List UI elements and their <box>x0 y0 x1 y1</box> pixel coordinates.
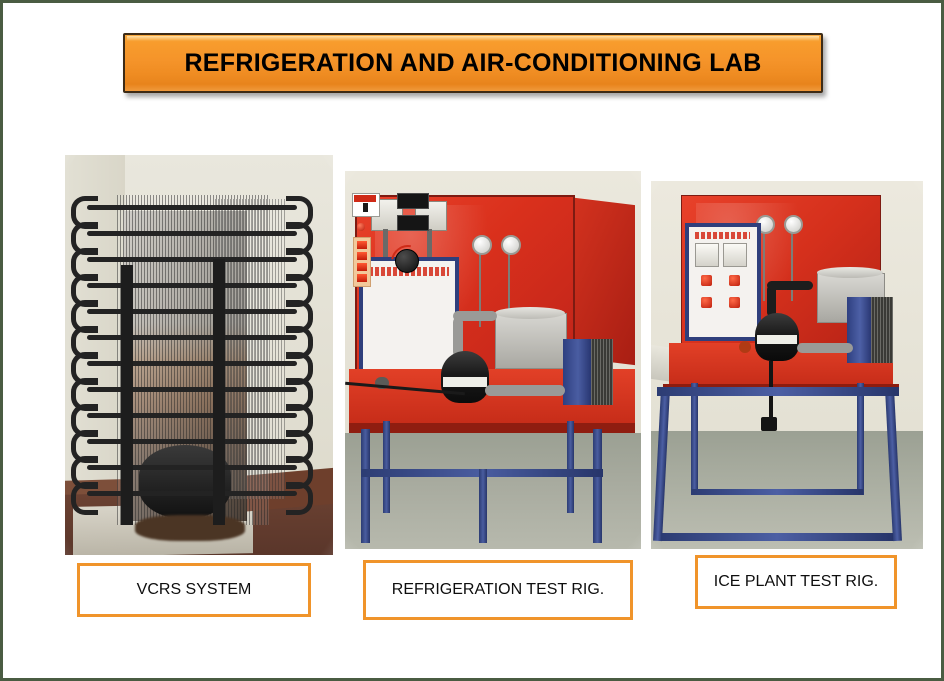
coil-tube <box>87 491 297 496</box>
gauge-2-stem <box>791 229 793 301</box>
coil-tube <box>87 309 297 314</box>
suction-hose-bend <box>453 311 497 321</box>
page-title-banner: REFRIGERATION AND AIR-CONDITIONING LAB <box>123 33 823 93</box>
gauge-1-stem <box>763 229 765 301</box>
indicator-button-3[interactable] <box>701 297 712 308</box>
stainless-tank-lid <box>817 267 883 278</box>
control-panel[interactable] <box>685 223 761 341</box>
condenser-unit <box>563 339 593 405</box>
led-4 <box>357 274 367 282</box>
caption-vcrs-system: VCRS SYSTEM <box>77 563 311 617</box>
coil-tube <box>87 335 297 340</box>
table-leg-back-right <box>857 383 864 495</box>
table-leg-front-left <box>361 429 370 543</box>
photo-vcrs-system <box>65 155 333 555</box>
compressor-label-band <box>757 335 797 344</box>
pressure-gauge-2 <box>501 235 521 255</box>
led-1 <box>357 241 367 249</box>
indicator-button-2[interactable] <box>729 275 740 286</box>
meter-2-cable <box>427 229 432 259</box>
caption-ice-plant-test-rig: ICE PLANT TEST RIG. <box>695 555 897 609</box>
slide-page: REFRIGERATION AND AIR-CONDITIONING LAB <box>0 0 944 681</box>
digital-display-2 <box>397 215 429 231</box>
led-3 <box>357 263 367 271</box>
coil-tube <box>87 413 297 418</box>
pressure-gauge-1 <box>472 235 492 255</box>
coil-tube <box>87 439 297 444</box>
photo-ice-plant-test-rig <box>651 181 923 549</box>
table-leg-back-right <box>567 421 574 513</box>
control-panel-title <box>695 232 750 239</box>
table-lower-brace <box>479 469 487 543</box>
led-2 <box>357 252 367 260</box>
meter-1-cable <box>383 229 388 259</box>
frame-rail-left <box>121 265 133 525</box>
stainless-tank-lid <box>495 307 565 319</box>
panel-meter-digit <box>363 203 368 212</box>
table-cross-brace-front <box>657 387 899 396</box>
coil-tube <box>87 465 297 470</box>
indicator-lamp <box>357 223 365 231</box>
indicator-led-column <box>353 237 371 287</box>
condenser-fin-pack <box>871 297 893 363</box>
page-title: REFRIGERATION AND AIR-CONDITIONING LAB <box>184 49 761 78</box>
table-cross-brace-rear <box>691 489 863 495</box>
table-cross-brace-bottom <box>661 533 893 541</box>
discharge-hose <box>797 343 853 353</box>
frame-rail-right <box>213 259 225 525</box>
panel-meter-1 <box>695 243 719 267</box>
condenser-fin-pack <box>591 339 613 405</box>
coil-tube <box>87 257 297 262</box>
coil-tube <box>87 283 297 288</box>
table-leg-back-left <box>383 421 390 513</box>
digital-display-1 <box>397 193 429 209</box>
rotary-knob[interactable] <box>395 249 419 273</box>
table-leg-back-left <box>691 383 698 495</box>
suction-hose-bend <box>767 281 813 290</box>
coil-tube <box>87 231 297 236</box>
coil-tube <box>87 387 297 392</box>
table-leg-front-right <box>593 429 602 543</box>
coil-tube <box>87 361 297 366</box>
caption-refrigeration-test-rig: REFRIGERATION TEST RIG. <box>363 560 633 620</box>
pressure-gauge-2 <box>784 215 803 234</box>
coil-tube <box>87 205 297 210</box>
photo-refrigeration-test-rig <box>345 171 641 549</box>
compressor-label-band <box>443 377 487 387</box>
panel-meter-red-strip <box>354 195 376 202</box>
power-plug <box>761 417 777 431</box>
stainless-tank <box>495 313 567 369</box>
condenser-unit <box>847 297 873 363</box>
indicator-button-1[interactable] <box>701 275 712 286</box>
indicator-button-4[interactable] <box>729 297 740 308</box>
valve-assembly <box>739 341 751 353</box>
panel-meter-2 <box>723 243 747 267</box>
discharge-hose <box>485 385 565 396</box>
